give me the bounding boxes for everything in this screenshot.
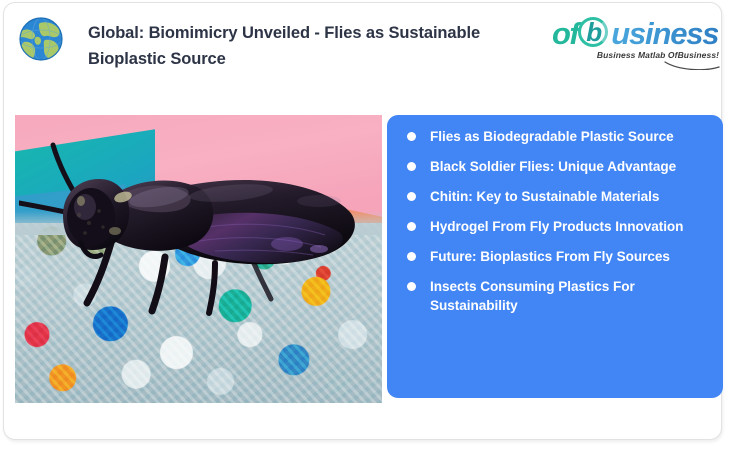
bullet-dot-icon — [407, 162, 416, 171]
list-item-label: Flies as Biodegradable Plastic Source — [430, 127, 713, 146]
bullet-dot-icon — [407, 222, 416, 231]
news-card: Global: Biomimicry Unveiled - Flies as S… — [3, 2, 722, 440]
list-item[interactable]: Hydrogel From Fly Products Innovation — [401, 217, 713, 236]
bullet-dot-icon — [407, 282, 416, 291]
bullet-dot-icon — [407, 132, 416, 141]
list-item-label: Black Soldier Flies: Unique Advantage — [430, 157, 713, 176]
list-item-label: Hydrogel From Fly Products Innovation — [430, 217, 713, 236]
list-item-label: Chitin: Key to Sustainable Materials — [430, 187, 713, 206]
list-item[interactable]: Black Soldier Flies: Unique Advantage — [401, 157, 713, 176]
list-item[interactable]: Future: Bioplastics From Fly Sources — [401, 247, 713, 266]
list-item-label: Insects Consuming Plastics For Sustainab… — [430, 277, 713, 315]
article-photo — [15, 115, 382, 403]
black-soldier-fly-illustration — [19, 131, 377, 321]
key-points-panel: Flies as Biodegradable Plastic Source Bl… — [387, 115, 723, 398]
logo-wordmark: of b usiness — [552, 15, 730, 55]
logo-text-b: b — [586, 16, 602, 48]
list-item[interactable]: Chitin: Key to Sustainable Materials — [401, 187, 713, 206]
logo-swoosh-icon — [664, 59, 720, 70]
page-title: Global: Biomimicry Unveiled - Flies as S… — [88, 20, 543, 72]
list-item-label: Future: Bioplastics From Fly Sources — [430, 247, 713, 266]
list-item[interactable]: Insects Consuming Plastics For Sustainab… — [401, 277, 713, 315]
list-item[interactable]: Flies as Biodegradable Plastic Source — [401, 127, 713, 146]
bullet-dot-icon — [407, 252, 416, 261]
bullet-dot-icon — [407, 192, 416, 201]
logo-b-badge: b — [578, 17, 612, 51]
ofbusiness-logo[interactable]: of b usiness Business Matlab OfBusiness! — [552, 15, 730, 73]
card-header: Global: Biomimicry Unveiled - Flies as S… — [4, 3, 723, 95]
globe-earth-icon — [18, 16, 64, 62]
logo-text-usiness: usiness — [611, 15, 718, 53]
logo-text-of: of — [552, 15, 578, 53]
